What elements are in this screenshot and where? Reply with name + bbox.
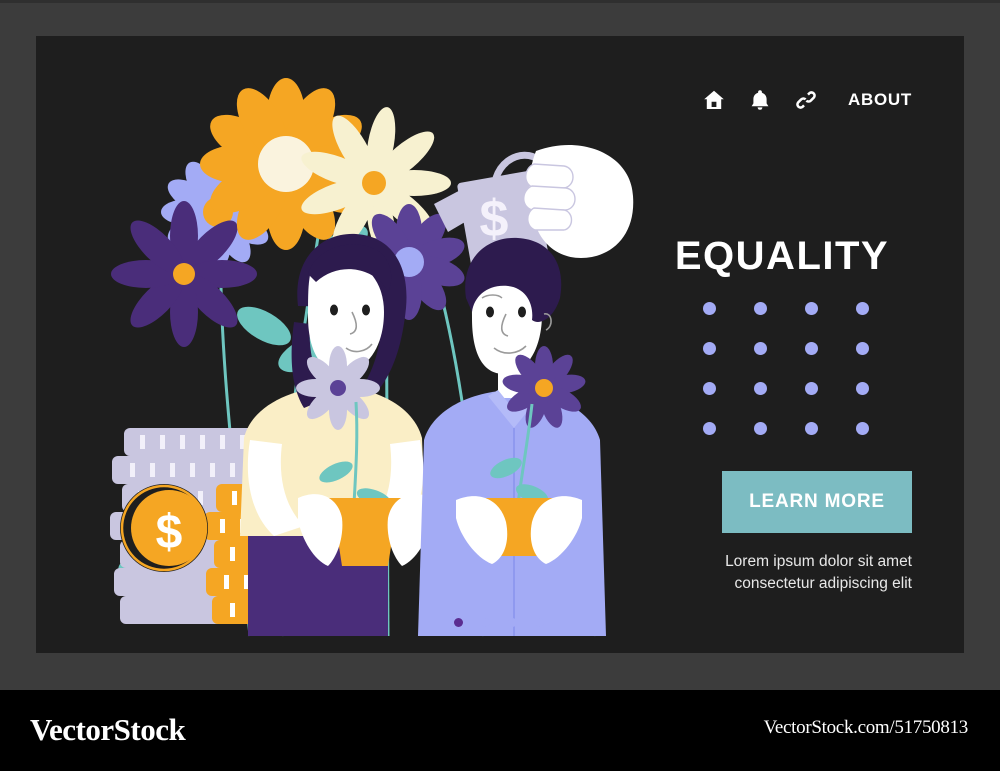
hero-card: $ (36, 36, 964, 653)
page-stage: $ (0, 0, 1000, 771)
top-navigation: ABOUT (702, 88, 912, 112)
hero-content: EQUALITY LEARN MORE (652, 236, 912, 596)
dollar-coin: $ (120, 484, 208, 572)
grid-dot (754, 302, 767, 315)
learn-more-button[interactable]: LEARN MORE (722, 471, 912, 533)
carousel-dot-2[interactable] (481, 618, 490, 627)
carousel-dot-3[interactable] (508, 618, 517, 627)
grid-dot (754, 382, 767, 395)
grid-dot (805, 382, 818, 395)
grid-dot (754, 342, 767, 355)
grid-dot (856, 342, 869, 355)
vectorstock-logo: VectorStock (30, 712, 185, 748)
nav-about-link[interactable]: ABOUT (848, 90, 912, 110)
grid-dot (703, 342, 716, 355)
vectorstock-url: VectorStock.com/51750813 (764, 717, 968, 739)
grid-dot (754, 422, 767, 435)
carousel-dot-4[interactable] (535, 618, 544, 627)
grid-dot (703, 422, 716, 435)
grid-dot (856, 382, 869, 395)
footer-bar: VectorStock VectorStock.com/51750813 (0, 690, 1000, 771)
tagline-line-2: consectetur adipiscing elit (652, 573, 912, 595)
tagline-line-1: Lorem ipsum dolor sit amet (652, 551, 912, 573)
grid-dot (805, 302, 818, 315)
grid-dot (703, 302, 716, 315)
svg-text:$: $ (156, 506, 183, 559)
decorative-dot-grid (692, 302, 872, 435)
grid-dot (805, 422, 818, 435)
grid-dot (805, 342, 818, 355)
bell-icon[interactable] (748, 88, 772, 112)
hero-tagline: Lorem ipsum dolor sit amet consectetur a… (652, 551, 912, 596)
grid-dot (703, 382, 716, 395)
carousel-pagination (454, 618, 544, 627)
frame-top-edge (0, 0, 1000, 3)
person-woman (240, 234, 432, 636)
hero-illustration: $ (36, 36, 736, 653)
person-man (418, 238, 606, 636)
grid-dot (856, 422, 869, 435)
carousel-dot-1[interactable] (454, 618, 463, 627)
grid-dot (856, 302, 869, 315)
flower-deep-purple (111, 201, 257, 347)
link-icon[interactable] (794, 88, 818, 112)
home-icon[interactable] (702, 88, 726, 112)
page-title: EQUALITY (652, 236, 912, 276)
